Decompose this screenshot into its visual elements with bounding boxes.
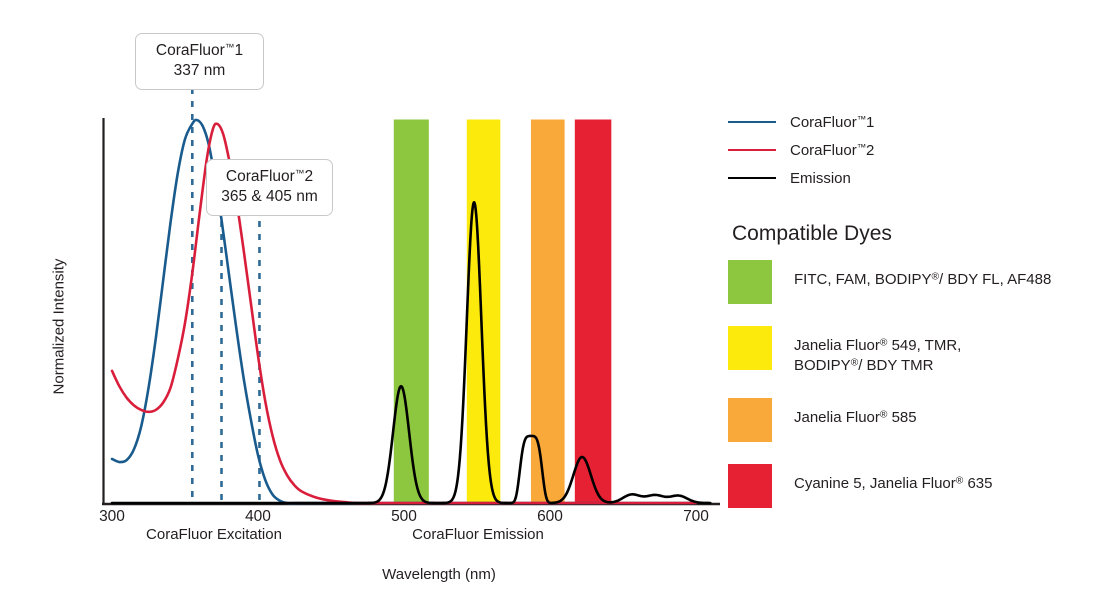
legend-line-swatch bbox=[728, 177, 776, 179]
dye-row-2: Janelia Fluor® 585 bbox=[728, 398, 1100, 442]
callout-cf2-line2: 365 & 405 nm bbox=[219, 187, 320, 207]
registered-symbol: ® bbox=[880, 410, 888, 421]
legend-line-swatch bbox=[728, 121, 776, 123]
x-tick-500: 500 bbox=[376, 508, 432, 526]
trademark-symbol: ™ bbox=[857, 114, 866, 124]
dye-row-0: FITC, FAM, BODIPY®/ BDY FL, AF488 bbox=[728, 260, 1100, 304]
dye-label-line: FITC, FAM, BODIPY®/ BDY FL, AF488 bbox=[794, 271, 1051, 288]
dye-color-swatch bbox=[728, 260, 772, 304]
legend-label: CoraFluor™1 bbox=[790, 114, 874, 131]
legend-row-1: CoraFluor™2 bbox=[728, 136, 1100, 164]
legend-label: Emission bbox=[790, 170, 851, 187]
dye-label-line: Janelia Fluor® 585 bbox=[794, 409, 917, 426]
legend-row-0: CoraFluor™1 bbox=[728, 108, 1100, 136]
trademark-symbol: ™ bbox=[225, 42, 235, 53]
registered-symbol: ® bbox=[932, 272, 940, 283]
callout-cf1-line1: CoraFluor™1 bbox=[156, 42, 243, 59]
dye-label-line: Cyanine 5, Janelia Fluor® 635 bbox=[794, 475, 992, 492]
dye-color-swatch bbox=[728, 326, 772, 370]
legend-panel: CoraFluor™1CoraFluor™2Emission Compatibl… bbox=[728, 108, 1100, 530]
excitation-region-label: CoraFluor Excitation bbox=[104, 526, 324, 543]
emission-region-label: CoraFluor Emission bbox=[366, 526, 590, 543]
dye-label-line: Janelia Fluor® 549, TMR, bbox=[794, 337, 961, 354]
x-tick-700: 700 bbox=[668, 508, 724, 526]
red-band bbox=[575, 120, 612, 505]
trademark-symbol: ™ bbox=[857, 142, 866, 152]
trademark-symbol: ™ bbox=[295, 168, 305, 179]
dye-label: Janelia Fluor® 585 bbox=[794, 398, 917, 428]
callout-corafluor1: CoraFluor™1 337 nm bbox=[135, 33, 264, 90]
dye-color-swatch bbox=[728, 464, 772, 508]
dye-row-1: Janelia Fluor® 549, TMR,BODIPY®/ BDY TMR bbox=[728, 326, 1100, 376]
legend-row-2: Emission bbox=[728, 164, 1100, 192]
dye-row-3: Cyanine 5, Janelia Fluor® 635 bbox=[728, 464, 1100, 508]
callout-cf1-line2: 337 nm bbox=[148, 61, 251, 81]
registered-symbol: ® bbox=[956, 476, 964, 487]
registered-symbol: ® bbox=[880, 338, 888, 349]
series-legend: CoraFluor™1CoraFluor™2Emission bbox=[728, 108, 1100, 192]
legend-line-swatch bbox=[728, 149, 776, 151]
registered-symbol: ® bbox=[851, 358, 859, 369]
yellow-band bbox=[467, 120, 501, 505]
compatible-dyes-list: FITC, FAM, BODIPY®/ BDY FL, AF488Janelia… bbox=[728, 260, 1100, 508]
dye-label: FITC, FAM, BODIPY®/ BDY FL, AF488 bbox=[794, 260, 1051, 290]
dye-label: Janelia Fluor® 549, TMR,BODIPY®/ BDY TMR bbox=[794, 326, 961, 376]
legend-label: CoraFluor™2 bbox=[790, 142, 874, 159]
x-axis-label: Wavelength (nm) bbox=[264, 566, 614, 583]
dye-color-swatch bbox=[728, 398, 772, 442]
x-tick-300: 300 bbox=[84, 508, 140, 526]
compatible-dyes-title: Compatible Dyes bbox=[732, 222, 1100, 246]
dye-label: Cyanine 5, Janelia Fluor® 635 bbox=[794, 464, 992, 494]
orange-band bbox=[531, 120, 565, 505]
callout-corafluor2: CoraFluor™2 365 & 405 nm bbox=[206, 159, 333, 216]
x-tick-400: 400 bbox=[230, 508, 286, 526]
dye-label-line: BODIPY®/ BDY TMR bbox=[794, 356, 961, 376]
callout-cf2-line1: CoraFluor™2 bbox=[226, 168, 313, 185]
y-axis-label: Normalized Intensity bbox=[51, 232, 68, 422]
x-tick-600: 600 bbox=[522, 508, 578, 526]
